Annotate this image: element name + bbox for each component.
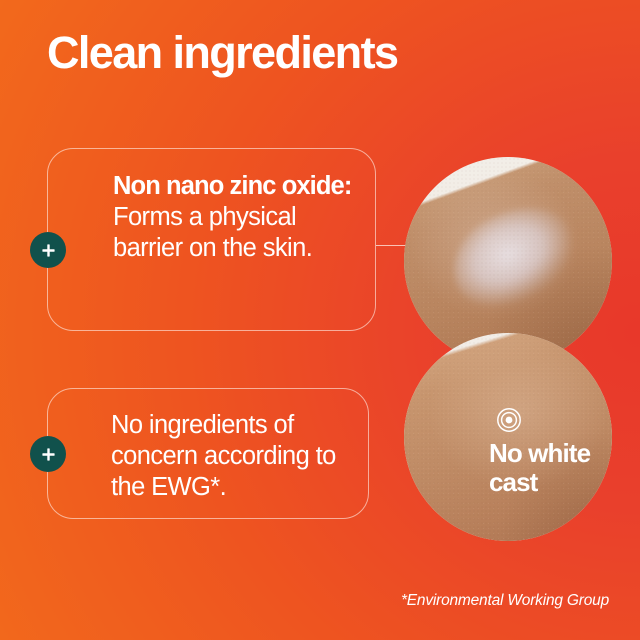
card-ewg-body: No ingredients of concern according to t… [111, 411, 336, 501]
card-zinc-oxide-body: Forms a physical barrier on the skin. [113, 203, 312, 262]
clean-ingredients-infographic: Clean ingredients No white cast [0, 0, 640, 640]
footnote: *Environmental Working Group [401, 592, 609, 610]
photo-no-white-cast: No white cast [404, 333, 612, 541]
plus-icon [41, 243, 56, 258]
card-ewg: No ingredients of concern according to t… [47, 388, 369, 519]
card-ewg-text: No ingredients of concern according to t… [111, 410, 363, 503]
page-title: Clean ingredients [47, 26, 607, 80]
plus-badge [30, 436, 66, 472]
ripple-target-icon [496, 407, 522, 438]
card-zinc-oxide: Non nano zinc oxide: Forms a physical ba… [47, 148, 376, 331]
photo-caption-no-white-cast: No white cast [489, 439, 612, 497]
plus-badge [30, 232, 66, 268]
card-zinc-oxide-heading: Non nano zinc oxide: [113, 172, 351, 200]
plus-icon [41, 447, 56, 462]
card-zinc-oxide-text: Non nano zinc oxide: Forms a physical ba… [113, 171, 365, 264]
